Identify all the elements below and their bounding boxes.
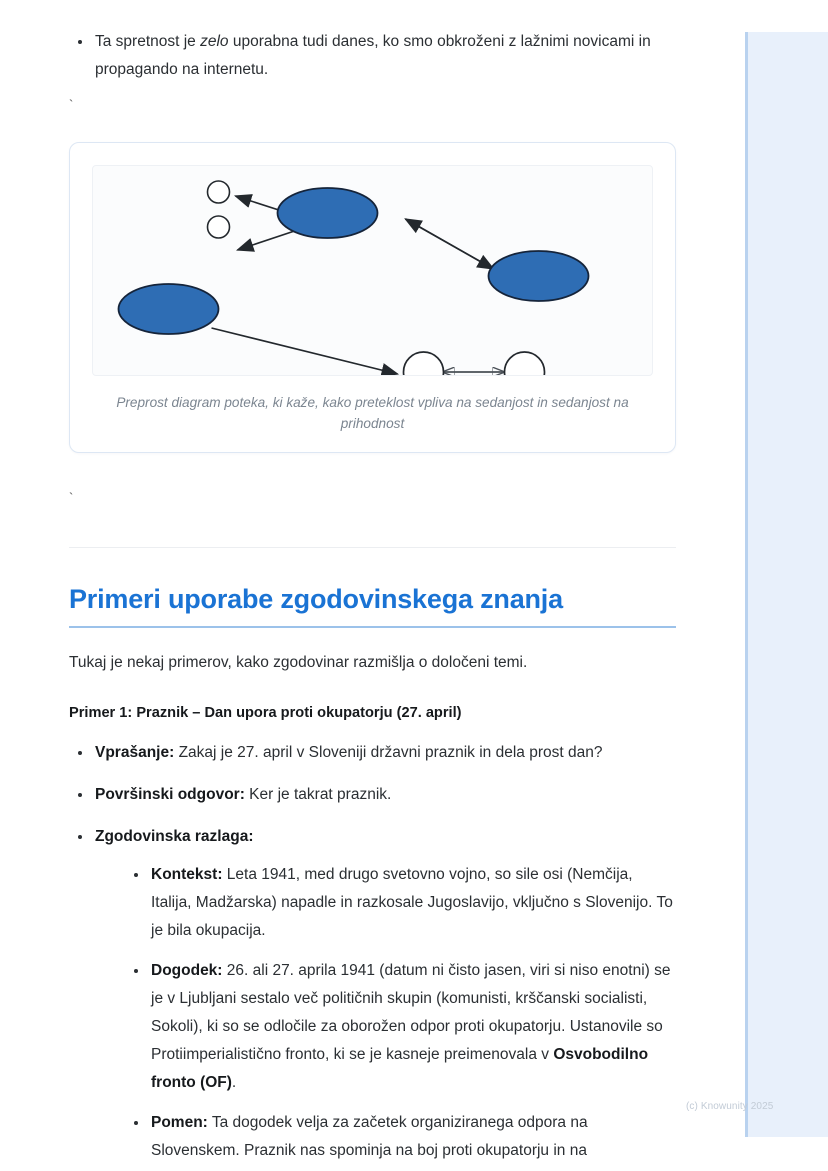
tick-mark-bottom: ` (69, 491, 676, 505)
sub-item-label: Dogodek: (151, 962, 222, 979)
edge-right-ellipse-to-center (406, 219, 494, 269)
sub-bullet-list: Kontekst: Leta 1941, med drugo svetovno … (125, 861, 676, 1165)
small-circle-top-icon (208, 181, 230, 203)
list-item-label: Površinski odgovor: (95, 786, 245, 803)
top-bullet-list: Ta spretnost je zelo uporabna tudi danes… (69, 28, 676, 84)
figure-card: Preprost diagram poteka, ki kaže, kako p… (69, 142, 676, 453)
ellipse-center-top-icon (278, 188, 378, 238)
watermark: (c) Knowunity 2025 (686, 1101, 773, 1112)
list-item: Zgodovinska razlaga: Kontekst: Leta 1941… (69, 823, 676, 1165)
sub-item-text-tail: . (232, 1074, 236, 1091)
figure-caption: Preprost diagram poteka, ki kaže, kako p… (92, 392, 653, 434)
list-item-label: Vprašanje: (95, 744, 174, 761)
tick-mark-top: ` (69, 98, 676, 112)
figure-image-area (92, 165, 653, 376)
example-title: Primer 1: Praznik – Dan upora proti okup… (69, 702, 676, 724)
sub-item-label: Kontekst: (151, 866, 222, 883)
sub-item-text: Ta dogodek velja za začetek organizirane… (151, 1114, 588, 1159)
section-lead-text: Tukaj je nekaj primerov, kako zgodovinar… (69, 650, 676, 676)
right-page-strip (745, 32, 828, 1137)
section-divider (69, 547, 676, 548)
edge-left-ellipse-to-circle (212, 328, 398, 374)
list-item: Dogodek: 26. ali 27. aprila 1941 (datum … (125, 957, 676, 1097)
example-bullet-list: Vprašanje: Zakaj je 27. april v Slovenij… (69, 739, 676, 1165)
bullet-text-part: Ta spretnost je (95, 33, 200, 50)
sub-item-text: Leta 1941, med drugo svetovno vojno, so … (151, 866, 673, 939)
list-item: Kontekst: Leta 1941, med drugo svetovno … (125, 861, 676, 945)
flowchart-diagram (93, 166, 652, 375)
list-item: Vprašanje: Zakaj je 27. april v Slovenij… (69, 739, 676, 767)
page-title: Primeri uporabe zgodovinskega znanja (69, 582, 676, 616)
heading-underline (69, 626, 676, 628)
bullet-text-emphasis: zelo (200, 33, 228, 50)
list-item-label: Zgodovinska razlaga: (95, 828, 253, 845)
list-item-text: Zakaj je 27. april v Sloveniji državni p… (174, 744, 602, 761)
document-page: Ta spretnost je zelo uporabna tudi danes… (0, 0, 745, 1171)
circle-bottom-right-icon (505, 352, 545, 375)
list-item: Ta spretnost je zelo uporabna tudi danes… (69, 28, 676, 84)
ellipse-left-bottom-icon (119, 284, 219, 334)
sub-item-label: Pomen: (151, 1114, 208, 1131)
list-item: Pomen: Ta dogodek velja za začetek organ… (125, 1109, 676, 1165)
small-circle-bottom-icon (208, 216, 230, 238)
circle-bottom-middle-icon (404, 352, 444, 375)
list-item: Površinski odgovor: Ker je takrat prazni… (69, 781, 676, 809)
ellipse-right-icon (489, 251, 589, 301)
list-item-text: Ker je takrat praznik. (245, 786, 391, 803)
